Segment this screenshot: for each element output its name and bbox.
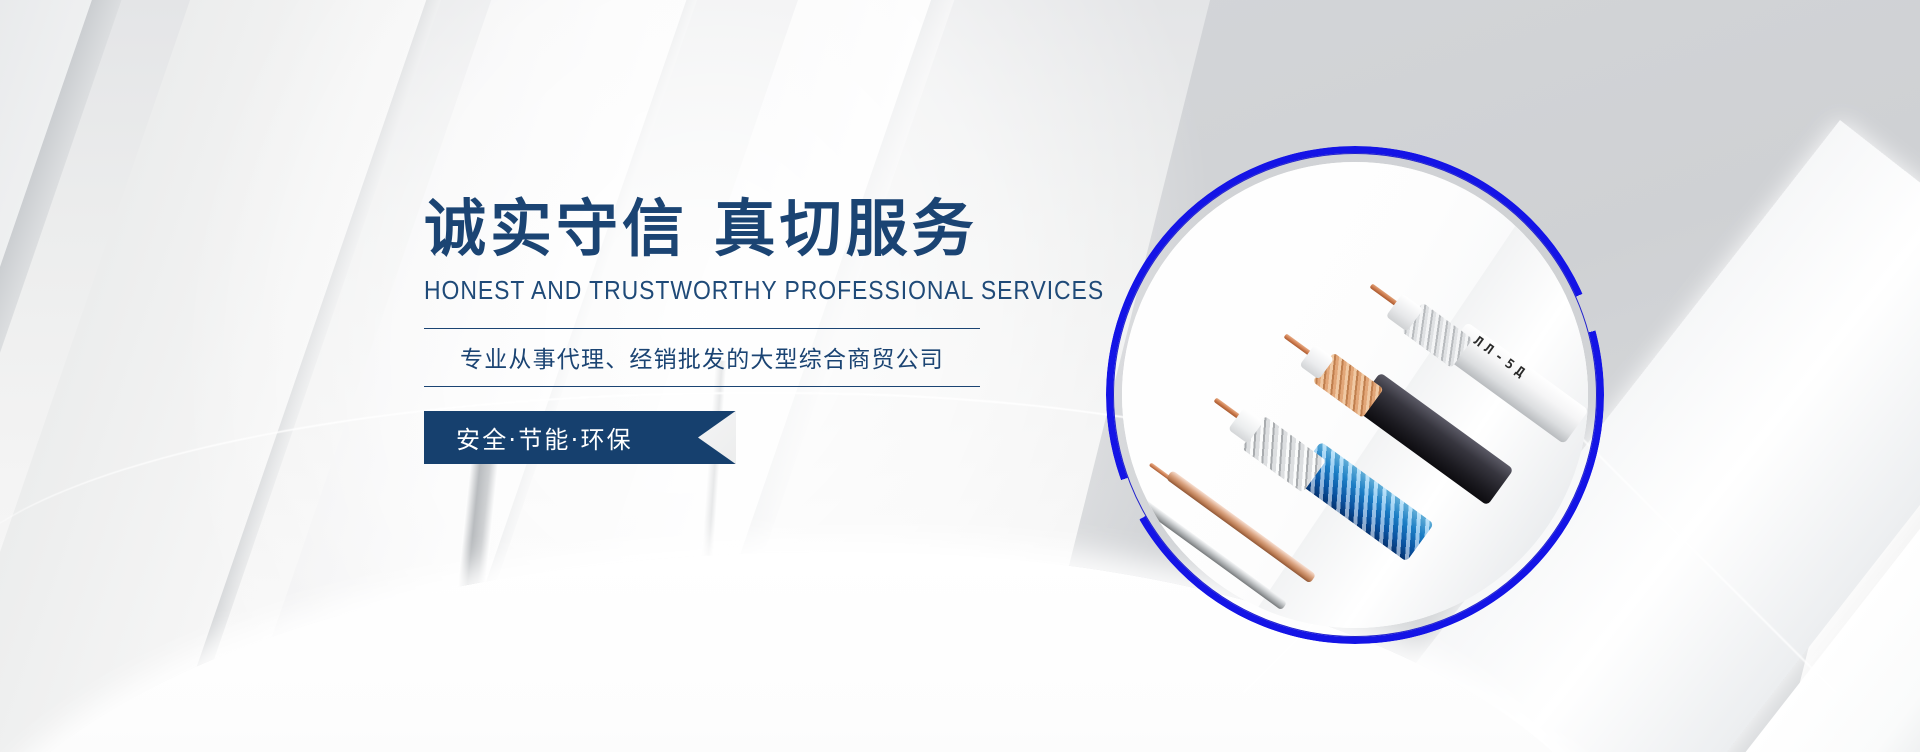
page-subtitle: HONEST AND TRUSTWORTHY PROFESSIONAL SERV… — [424, 277, 1000, 306]
description-rule-box: 专业从事代理、经销批发的大型综合商贸公司 — [424, 328, 980, 387]
hero-banner: 诚实守信 真切服务 HONEST AND TRUSTWORTHY PROFESS… — [0, 0, 1920, 752]
badge-label: 安全·节能·环保 — [456, 420, 633, 455]
page-title: 诚实守信 真切服务 — [424, 196, 1064, 263]
circle-ring-thick — [1106, 146, 1604, 644]
badge-notch-icon — [698, 411, 736, 464]
product-circle: ЛЛ-5Д — [1113, 153, 1597, 637]
status-badge: 安全·节能·环保 — [424, 411, 736, 464]
hero-text-block: 诚实守信 真切服务 HONEST AND TRUSTWORTHY PROFESS… — [424, 196, 1064, 464]
description-text: 专业从事代理、经销批发的大型综合商贸公司 — [424, 340, 980, 374]
